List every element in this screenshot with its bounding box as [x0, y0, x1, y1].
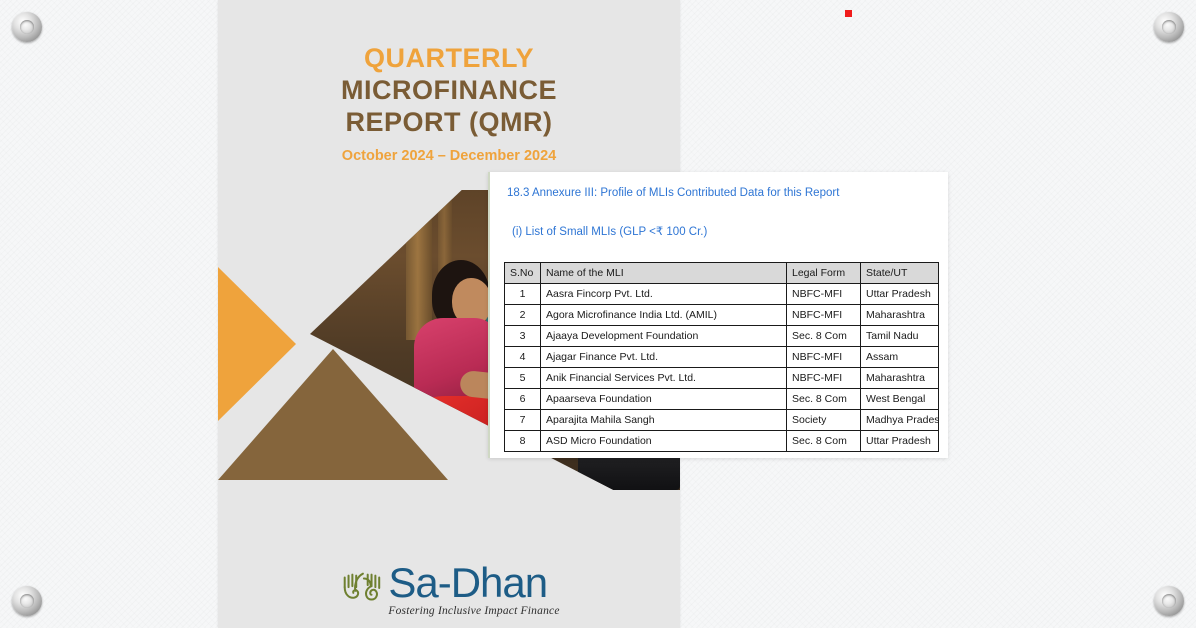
- cell-name: Aparajita Mahila Sangh: [541, 410, 787, 431]
- orange-triangle-shape: [218, 267, 296, 421]
- column-header-sno: S.No: [505, 263, 541, 284]
- corner-grommet-icon: [1154, 12, 1184, 42]
- cell-state: West Bengal: [861, 389, 939, 410]
- cell-state: Uttar Pradesh: [861, 284, 939, 305]
- annexure-subheading: (i) List of Small MLIs (GLP <₹ 100 Cr.): [512, 224, 707, 238]
- table-row: 4Ajagar Finance Pvt. Ltd.NBFC-MFIAssam: [505, 347, 939, 368]
- table-row: 8ASD Micro FoundationSec. 8 ComUttar Pra…: [505, 431, 939, 452]
- sa-dhan-logo-text: Sa-Dhan Fostering Inclusive Impact Finan…: [388, 562, 559, 617]
- table-row: 6Apaarseva FoundationSec. 8 ComWest Beng…: [505, 389, 939, 410]
- title-line-quarterly: QUARTERLY: [218, 42, 680, 74]
- cell-sno: 5: [505, 368, 541, 389]
- sa-dhan-spiral-icon: [338, 566, 384, 612]
- cell-legal: Sec. 8 Com: [787, 431, 861, 452]
- cell-legal: NBFC-MFI: [787, 305, 861, 326]
- document-viewer: QUARTERLY MICROFINANCE REPORT (QMR) Octo…: [0, 0, 1196, 628]
- annexure-heading: 18.3 Annexure III: Profile of MLIs Contr…: [507, 187, 839, 199]
- annexure-panel: 18.3 Annexure III: Profile of MLIs Contr…: [488, 172, 948, 458]
- corner-grommet-icon: [12, 586, 42, 616]
- cell-name: Agora Microfinance India Ltd. (AMIL): [541, 305, 787, 326]
- cell-name: Apaarseva Foundation: [541, 389, 787, 410]
- report-date-range: October 2024 – December 2024: [218, 148, 680, 164]
- red-marker-dot-icon: [845, 10, 852, 17]
- cell-legal: Society: [787, 410, 861, 431]
- cell-sno: 3: [505, 326, 541, 347]
- mli-table: S.No Name of the MLI Legal Form State/UT…: [504, 262, 939, 452]
- cell-sno: 4: [505, 347, 541, 368]
- cell-sno: 7: [505, 410, 541, 431]
- mli-table-body: 1Aasra Fincorp Pvt. Ltd.NBFC-MFIUttar Pr…: [505, 284, 939, 452]
- cell-sno: 2: [505, 305, 541, 326]
- cell-legal: NBFC-MFI: [787, 284, 861, 305]
- cell-legal: Sec. 8 Com: [787, 326, 861, 347]
- table-header-row: S.No Name of the MLI Legal Form State/UT: [505, 263, 939, 284]
- sa-dhan-logo: Sa-Dhan Fostering Inclusive Impact Finan…: [218, 562, 680, 617]
- cell-name: Ajaaya Development Foundation: [541, 326, 787, 347]
- cell-name: Anik Financial Services Pvt. Ltd.: [541, 368, 787, 389]
- table-row: 7Aparajita Mahila SanghSocietyMadhya Pra…: [505, 410, 939, 431]
- cell-name: ASD Micro Foundation: [541, 431, 787, 452]
- cell-state: Maharashtra: [861, 368, 939, 389]
- cell-sno: 6: [505, 389, 541, 410]
- cell-state: Madhya Pradesh: [861, 410, 939, 431]
- table-row: 5Anik Financial Services Pvt. Ltd.NBFC-M…: [505, 368, 939, 389]
- table-row: 2Agora Microfinance India Ltd. (AMIL)NBF…: [505, 305, 939, 326]
- column-header-legal: Legal Form: [787, 263, 861, 284]
- sa-dhan-tagline: Fostering Inclusive Impact Finance: [388, 605, 559, 617]
- corner-grommet-icon: [1154, 586, 1184, 616]
- corner-grommet-icon: [12, 12, 42, 42]
- table-row: 3Ajaaya Development FoundationSec. 8 Com…: [505, 326, 939, 347]
- report-title-block: QUARTERLY MICROFINANCE REPORT (QMR) Octo…: [218, 42, 680, 164]
- column-header-state: State/UT: [861, 263, 939, 284]
- cell-legal: NBFC-MFI: [787, 368, 861, 389]
- title-line-report-qmr: REPORT (QMR): [218, 106, 680, 138]
- cell-state: Maharashtra: [861, 305, 939, 326]
- sa-dhan-wordmark: Sa-Dhan: [388, 562, 559, 604]
- cell-legal: Sec. 8 Com: [787, 389, 861, 410]
- cell-state: Tamil Nadu: [861, 326, 939, 347]
- cell-name: Ajagar Finance Pvt. Ltd.: [541, 347, 787, 368]
- cell-legal: NBFC-MFI: [787, 347, 861, 368]
- cell-state: Uttar Pradesh: [861, 431, 939, 452]
- cell-name: Aasra Fincorp Pvt. Ltd.: [541, 284, 787, 305]
- column-header-name: Name of the MLI: [541, 263, 787, 284]
- table-row: 1Aasra Fincorp Pvt. Ltd.NBFC-MFIUttar Pr…: [505, 284, 939, 305]
- title-line-microfinance: MICROFINANCE: [218, 74, 680, 106]
- photo-pillar: [406, 190, 432, 340]
- cell-sno: 8: [505, 431, 541, 452]
- cell-sno: 1: [505, 284, 541, 305]
- cell-state: Assam: [861, 347, 939, 368]
